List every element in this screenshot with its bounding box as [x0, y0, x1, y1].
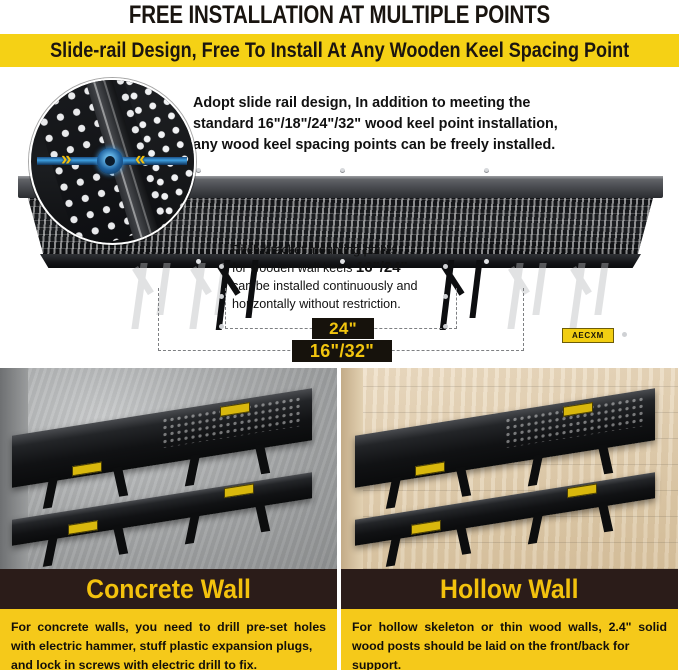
deck-screw	[484, 259, 489, 264]
intro-line-2: standard 16"/18"/24"/32" wood keel point…	[193, 114, 673, 135]
brand-badge: AECXM	[562, 328, 614, 343]
hollow-body-line-1: For hollow skeleton or thin wood walls, …	[352, 620, 667, 634]
panel-body-hollow: For hollow skeleton or thin wood walls, …	[341, 609, 678, 670]
panel-title-concrete-text: Concrete Wall	[86, 574, 251, 605]
concrete-wall-photo	[0, 368, 337, 569]
intro-line-3: any wood keel spacing points can be free…	[193, 135, 673, 156]
subtitle-banner: Slide-rail Design, Free To Install At An…	[0, 34, 679, 67]
concrete-body-line-1: For concrete walls, you need to drill pr…	[11, 620, 326, 634]
callout-keel-spacing: 16"/24"	[356, 259, 408, 276]
concrete-body-line-2: with electric hammer, stuff plastic expa…	[11, 639, 312, 653]
infographic-page: FREE INSTALLATION AT MULTIPLE POINTS Sli…	[0, 0, 679, 670]
callout-line-2: for wooden wall keels 16"/24"	[232, 259, 447, 277]
ghost-bracket	[572, 263, 606, 331]
rail-screw	[340, 168, 345, 173]
panel-title-hollow-text: Hollow Wall	[440, 574, 578, 605]
slide-rail-bolt-icon	[97, 148, 123, 174]
panel-body-concrete: For concrete walls, you need to drill pr…	[0, 609, 337, 670]
hollow-body-line-3: support.	[352, 656, 667, 670]
hollow-wall-photo	[341, 368, 678, 569]
hollow-body-line-2: wood posts should be laid on the front/b…	[352, 639, 629, 653]
magnifier-detail-circle: » «	[29, 78, 196, 245]
panel-title-concrete: Concrete Wall	[0, 569, 337, 609]
chevron-left-icon: «	[135, 150, 143, 169]
intro-paragraph: Adopt slide rail design, In addition to …	[193, 93, 673, 156]
panel-concrete-wall: Concrete Wall For concrete walls, you ne…	[0, 368, 337, 670]
panel-hollow-wall: Hollow Wall For hollow skeleton or thin …	[341, 368, 678, 670]
wall-type-panels: Concrete Wall For concrete walls, you ne…	[0, 368, 679, 670]
callout-line-1: Pitch bracket mounting points	[232, 241, 447, 259]
chevron-right-icon: »	[61, 150, 69, 169]
brand-dot	[622, 332, 627, 337]
panel-title-hollow: Hollow Wall	[341, 569, 678, 609]
concrete-body-line-3: and lock in screws with electric drill t…	[11, 656, 326, 670]
rail-screw	[196, 168, 201, 173]
dimension-badge-16-32: 16"/32"	[292, 340, 392, 362]
rail-screw	[484, 168, 489, 173]
subtitle-banner-text: Slide-rail Design, Free To Install At An…	[50, 39, 629, 63]
intro-line-1: Adopt slide rail design, In addition to …	[193, 93, 673, 114]
main-title: FREE INSTALLATION AT MULTIPLE POINTS	[61, 0, 618, 32]
callout-line-2-text: for wooden wall keels	[232, 261, 356, 275]
dimension-badge-24: 24"	[312, 318, 374, 339]
